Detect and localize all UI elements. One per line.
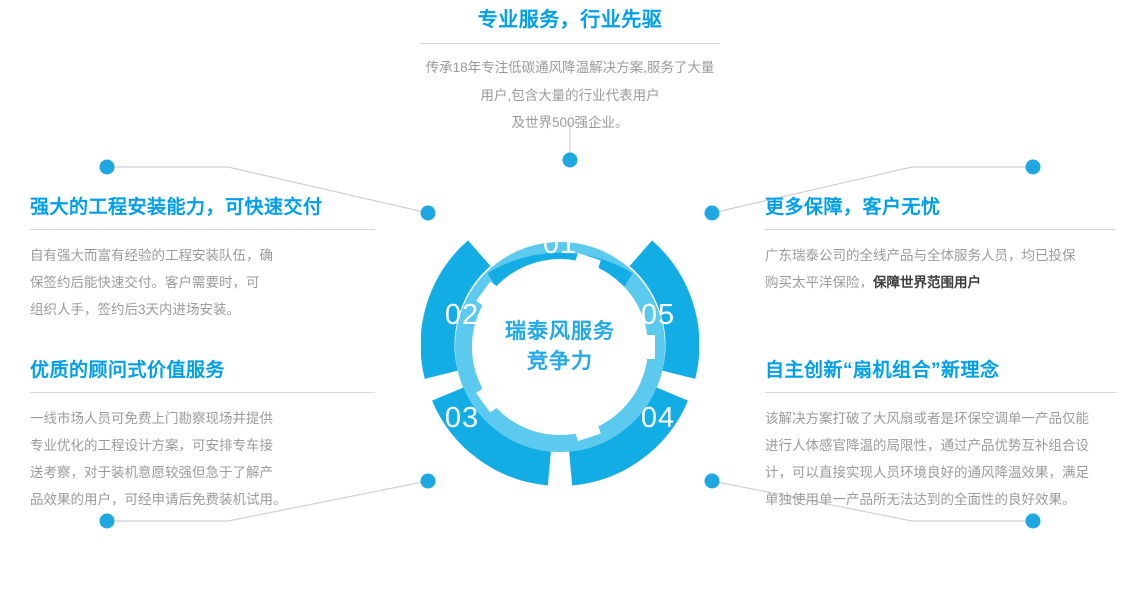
heading-rule-left-top	[30, 229, 375, 230]
text-block-right-bottom: 自主创新“扇机组合”新理念 该解决方案打破了大风扇或者是环保空调单一产品仅能 进…	[765, 359, 1117, 513]
body-line: 进行人体感官降温的局限性，通过产品优势互补组合设	[765, 432, 1117, 459]
body-line-bold: 保障世界范围用户	[873, 275, 981, 290]
dot-left-bottom-outer	[100, 514, 115, 529]
donut-label-04: 04	[641, 402, 675, 434]
donut-label-03: 03	[445, 402, 479, 434]
text-block-left-bottom: 优质的顾问式价值服务 一线市场人员可免费上门勘察现场并提供 专业优化的工程设计方…	[30, 359, 375, 513]
body-line: 一线市场人员可免费上门勘察现场并提供	[30, 405, 375, 432]
body-line: 该解决方案打破了大风扇或者是环保空调单一产品仅能	[765, 405, 1117, 432]
heading-rule-left-bottom	[30, 392, 375, 393]
infographic-canvas: 01 02 03 04 05 瑞泰风服务 竞争力 专业服务，行业先驱 传承18年…	[0, 0, 1140, 589]
body-line: 自有强大而富有经验的工程安装队伍，确	[30, 242, 375, 269]
text-block-left-top: 强大的工程安装能力，可快速交付 自有强大而富有经验的工程安装队伍，确 保签约后能…	[30, 196, 375, 323]
body-line: 送考察，对于装机意愿较强但急于了解产	[30, 459, 375, 486]
text-block-right-top: 更多保障，客户无忧 广东瑞泰公司的全线产品与全体服务人员，均已投保 购买太平洋保…	[765, 196, 1115, 296]
body-line-with-emphasis: 购买太平洋保险，保障世界范围用户	[765, 269, 1115, 296]
heading-rule-right-bottom	[765, 392, 1117, 393]
dot-right-top-inner	[705, 206, 720, 221]
body-right-bottom: 该解决方案打破了大风扇或者是环保空调单一产品仅能 进行人体感官降温的局限性，通过…	[765, 405, 1117, 513]
dot-left-top-outer	[100, 160, 115, 175]
body-line: 用户,包含大量的行业代表用户	[390, 82, 750, 110]
body-line: 广东瑞泰公司的全线产品与全体服务人员，均已投保	[765, 242, 1115, 269]
body-line-plain: 购买太平洋保险，	[765, 275, 873, 290]
body-line: 传承18年专注低碳通风降温解决方案,服务了大量	[390, 54, 750, 82]
dot-right-bottom-inner	[705, 474, 720, 489]
body-line: 品效果的用户，可经申请后免费装机试用。	[30, 486, 375, 513]
text-block-top: 专业服务，行业先驱 传承18年专注低碳通风降温解决方案,服务了大量 用户,包含大…	[390, 8, 750, 137]
body-line: 组织人手，签约后3天内进场安装。	[30, 296, 375, 323]
body-line: 专业优化的工程设计方案，可安排专车接	[30, 432, 375, 459]
heading-rule-top	[420, 43, 720, 44]
body-line: 计，可以直接实现人员环境良好的通风降温效果，满足	[765, 459, 1117, 486]
donut-label-05: 05	[641, 299, 675, 331]
dot-right-top-outer	[1026, 160, 1041, 175]
dot-top-center	[563, 153, 578, 168]
heading-right-top: 更多保障，客户无忧	[765, 196, 1115, 220]
heading-top: 专业服务，行业先驱	[390, 8, 750, 33]
donut-label-01: 01	[543, 228, 577, 260]
body-line: 保签约后能快速交付。客户需要时，可	[30, 269, 375, 296]
body-line: 单独使用单一产品所无法达到的全面性的良好效果。	[765, 486, 1117, 513]
body-top: 传承18年专注低碳通风降温解决方案,服务了大量 用户,包含大量的行业代表用户 及…	[390, 54, 750, 137]
donut-label-02: 02	[445, 299, 479, 331]
body-left-top: 自有强大而富有经验的工程安装队伍，确 保签约后能快速交付。客户需要时，可 组织人…	[30, 242, 375, 323]
heading-left-top: 强大的工程安装能力，可快速交付	[30, 196, 375, 220]
dot-right-bottom-outer	[1026, 514, 1041, 529]
segmented-donut-chart: 01 02 03 04 05	[421, 208, 699, 486]
donut-svg: 01 02 03 04 05	[421, 208, 699, 486]
heading-rule-right-top	[765, 229, 1115, 230]
heading-right-bottom: 自主创新“扇机组合”新理念	[765, 359, 1117, 383]
body-right-top: 广东瑞泰公司的全线产品与全体服务人员，均已投保 购买太平洋保险，保障世界范围用户	[765, 242, 1115, 296]
heading-left-bottom: 优质的顾问式价值服务	[30, 359, 375, 383]
body-line: 及世界500强企业。	[390, 109, 750, 137]
body-left-bottom: 一线市场人员可免费上门勘察现场并提供 专业优化的工程设计方案，可安排专车接 送考…	[30, 405, 375, 513]
